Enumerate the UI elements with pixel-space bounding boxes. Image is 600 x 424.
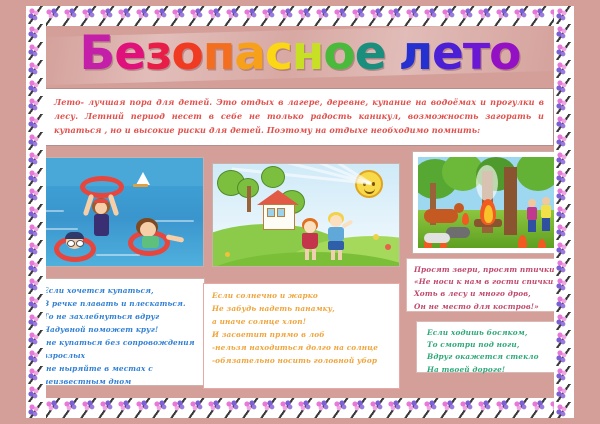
- child-goggles: [76, 240, 84, 247]
- house-window: [277, 208, 285, 217]
- fleeing-deer: [424, 209, 458, 223]
- forest-campfire-illustration: [412, 151, 574, 254]
- campfire-scene: [418, 157, 568, 248]
- verse-box-sun-safety: Если солнечно и жарко Не забудь надеть п…: [203, 283, 400, 389]
- title-letter: н: [292, 26, 323, 82]
- child-figure: [526, 199, 538, 233]
- verse-text-sun: Если солнечно и жарко Не забудь надеть п…: [212, 289, 394, 367]
- child-head: [528, 199, 536, 207]
- page-title: Безопасное лето: [46, 26, 554, 82]
- flame-icon: [484, 205, 493, 223]
- intro-text: Лето- лучшая пора для детей. Это отдых в…: [54, 95, 544, 138]
- tree-trunk: [504, 167, 517, 235]
- child-face: [304, 221, 316, 233]
- verse-text-water: Если хочется купаться, В речке плавать и…: [43, 284, 200, 388]
- deer-head: [454, 203, 464, 213]
- title-letter: з: [145, 26, 171, 82]
- title-letter: е: [114, 26, 145, 82]
- child-boy: [323, 212, 353, 262]
- poster-page: Безопасное лето Лето- лучшая пора для де…: [0, 0, 600, 424]
- title-letter: п: [203, 26, 234, 82]
- title-letter: о: [323, 26, 354, 82]
- title-band: Безопасное лето: [46, 26, 554, 81]
- child-leg: [305, 249, 309, 260]
- children-in-sun-illustration: [212, 163, 400, 267]
- fleeing-hare: [424, 233, 450, 243]
- verse-text-fire: Просят звери, просят птички: «Не носи к …: [414, 264, 569, 313]
- sun-smile: [364, 187, 375, 194]
- child-cap: [94, 199, 108, 203]
- child-figure: [554, 195, 567, 233]
- child-shirt: [527, 207, 537, 220]
- child-leg: [338, 250, 342, 260]
- flame-icon: [538, 239, 546, 248]
- child-leg: [312, 249, 316, 260]
- swimming-children-illustration: [35, 157, 204, 267]
- house-window: [267, 208, 275, 217]
- title-letter: о: [172, 26, 203, 82]
- title-letter: с: [265, 26, 292, 82]
- title-letter: л: [399, 26, 432, 82]
- child-face: [330, 215, 342, 227]
- title-letter: т: [463, 26, 489, 82]
- flame-icon: [518, 235, 527, 248]
- sun-eye: [372, 182, 375, 186]
- child-shirt: [541, 205, 551, 218]
- flower-icon: [225, 252, 230, 257]
- child-leg: [331, 250, 335, 260]
- child-shirt: [555, 203, 566, 217]
- house-roof: [257, 190, 299, 205]
- child-head: [542, 197, 550, 205]
- tree-icon: [261, 166, 285, 188]
- title-letter: е: [432, 26, 463, 82]
- child-head: [556, 195, 564, 203]
- child-shorts: [328, 241, 344, 250]
- verse-box-barefoot-safety: Если ходишь босяком, То смотри под ноги,…: [416, 321, 574, 373]
- child-dress: [302, 233, 318, 249]
- life-ring-icon: [80, 176, 124, 198]
- child-girl: [297, 218, 323, 262]
- child-hair: [65, 232, 84, 239]
- intro-paragraph-box: Лето- лучшая пора для детей. Это отдых в…: [44, 88, 554, 146]
- tree-trunk: [247, 186, 251, 212]
- child-pants: [556, 217, 565, 231]
- child-floating-left: [50, 230, 102, 264]
- title-space: [386, 26, 399, 82]
- child-pants: [542, 218, 550, 231]
- flower-icon: [373, 234, 379, 240]
- child-swimsuit: [142, 236, 159, 248]
- wave-line: [42, 210, 64, 212]
- child-face: [95, 202, 107, 214]
- child-shirt: [328, 227, 344, 241]
- title-letter: о: [489, 26, 520, 82]
- verse-box-fire-safety: Просят звери, просят птички: «Не носи к …: [406, 258, 574, 312]
- flame-icon: [462, 213, 469, 225]
- flower-border-top: [26, 6, 574, 26]
- title-letter: а: [234, 26, 265, 82]
- sailboat-hull: [133, 184, 148, 187]
- title-letter: е: [355, 26, 386, 82]
- flower-icon: [385, 244, 391, 250]
- child-figure: [540, 197, 552, 233]
- flower-border-bottom: [26, 398, 574, 418]
- title-letter: Б: [80, 26, 115, 82]
- verse-box-water-safety: Если хочется купаться, В речке плавать и…: [35, 278, 205, 386]
- child-face: [140, 222, 156, 237]
- smoke-cloud: [476, 165, 498, 201]
- tree-crown: [516, 157, 560, 191]
- verse-text-barefoot: Если ходишь босяком, То смотри под ноги,…: [427, 327, 569, 376]
- child-floating-right: [122, 218, 188, 260]
- child-pants: [528, 220, 536, 232]
- child-goggles: [67, 240, 75, 247]
